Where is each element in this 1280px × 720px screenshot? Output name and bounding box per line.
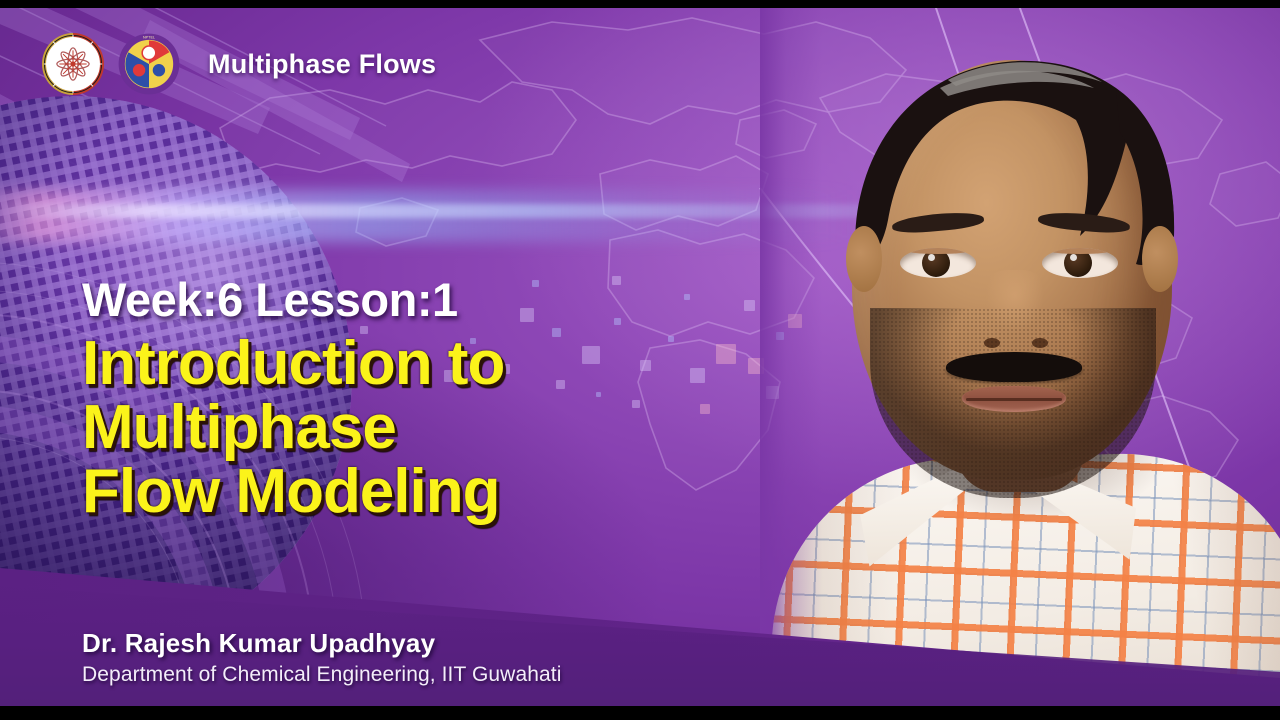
portrait-edge-feather [760, 8, 1280, 706]
lesson-title-line-2: Multiphase [82, 396, 722, 460]
nostril-left [984, 338, 1000, 348]
mouth-line [966, 398, 1062, 401]
iit-guwahati-logo[interactable] [42, 33, 104, 95]
light-beam [0, 190, 860, 242]
lesson-title: Introduction to Multiphase Flow Modeling [82, 332, 722, 524]
mouth [962, 386, 1066, 412]
shirt-collar-left [859, 451, 994, 566]
nose [978, 270, 1052, 354]
svg-text:NPTEL: NPTEL [143, 36, 155, 40]
lesson-title-line-1: Introduction to [82, 332, 722, 396]
eye-left [900, 248, 976, 278]
course-title: Multiphase Flows [208, 49, 436, 80]
nptel-logo[interactable]: NPTEL [118, 33, 180, 95]
eyelid-left [900, 248, 976, 254]
presenter-credit: Dr. Rajesh Kumar Upadhyay Department of … [82, 628, 561, 687]
presenter-portrait [760, 8, 1280, 706]
neck-shadow [950, 360, 1090, 430]
ear-right [1142, 226, 1178, 292]
letterbox-bottom [0, 706, 1280, 720]
slide-text-block: Week:6 Lesson:1 Introduction to Multipha… [82, 276, 722, 524]
moustache [946, 352, 1082, 382]
letterbox-top [0, 0, 1280, 8]
light-beam-highlight [0, 204, 1060, 218]
header: NPTEL Multiphase Flows [0, 8, 436, 120]
lesson-title-line-3: Flow Modeling [82, 460, 722, 524]
eyelid-right [1042, 248, 1118, 254]
eyebrow-right [1037, 210, 1130, 235]
shirt [767, 449, 1280, 706]
presenter-affiliation: Department of Chemical Engineering, IIT … [82, 663, 561, 687]
hair [844, 50, 1180, 350]
shirt-shading [767, 449, 1280, 706]
head [852, 60, 1172, 480]
shirt-check-pattern [767, 449, 1280, 706]
beard [870, 308, 1156, 498]
iris-left [922, 249, 950, 277]
slide-canvas: NPTEL Multiphase Flows Week:6 Lesson:1 I… [0, 8, 1280, 706]
week-lesson-label: Week:6 Lesson:1 [82, 276, 722, 324]
iris-right [1064, 249, 1092, 277]
nostril-right [1032, 338, 1048, 348]
ear-left [846, 226, 882, 292]
shirt-collar-right [1003, 449, 1138, 563]
eye-right [1042, 248, 1118, 278]
video-frame: NPTEL Multiphase Flows Week:6 Lesson:1 I… [0, 0, 1280, 720]
neck [956, 360, 1084, 492]
beard-stubble [870, 308, 1156, 498]
curved-arc-lines [640, 8, 1280, 706]
presenter-name: Dr. Rajesh Kumar Upadhyay [82, 628, 561, 659]
eyebrow-left [891, 210, 984, 235]
